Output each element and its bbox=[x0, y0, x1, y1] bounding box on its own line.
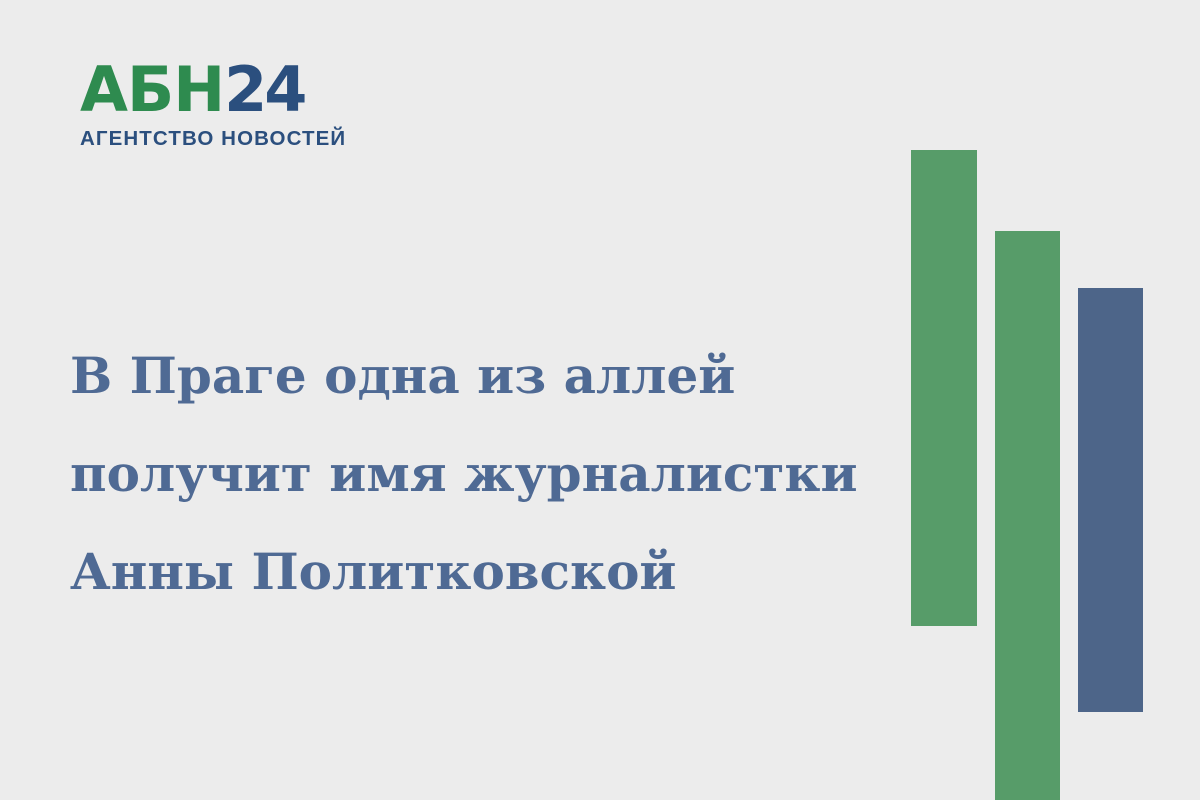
logo-tagline: АГЕНТСТВО НОВОСТЕЙ bbox=[80, 127, 380, 151]
decorative-bar-2 bbox=[995, 231, 1060, 800]
decorative-bar-3 bbox=[1078, 288, 1143, 712]
decorative-bar-1 bbox=[911, 150, 977, 626]
headline-line-2: получит имя журналистки bbox=[70, 425, 870, 523]
page-title: В Праге одна из аллей получит имя журнал… bbox=[70, 327, 870, 621]
headline-line-3: Анны Политковской bbox=[70, 523, 870, 621]
abn24-logo[interactable]: АБН24 АГЕНТСТВО НОВОСТЕЙ bbox=[80, 60, 380, 151]
logo-wordmark-primary: АБН bbox=[80, 53, 224, 126]
headline-line-1: В Праге одна из аллей bbox=[70, 327, 870, 425]
logo-wordmark: АБН24 bbox=[80, 60, 380, 121]
news-card: АБН24 АГЕНТСТВО НОВОСТЕЙ В Праге одна из… bbox=[0, 0, 1200, 800]
logo-wordmark-secondary: 24 bbox=[224, 53, 304, 126]
